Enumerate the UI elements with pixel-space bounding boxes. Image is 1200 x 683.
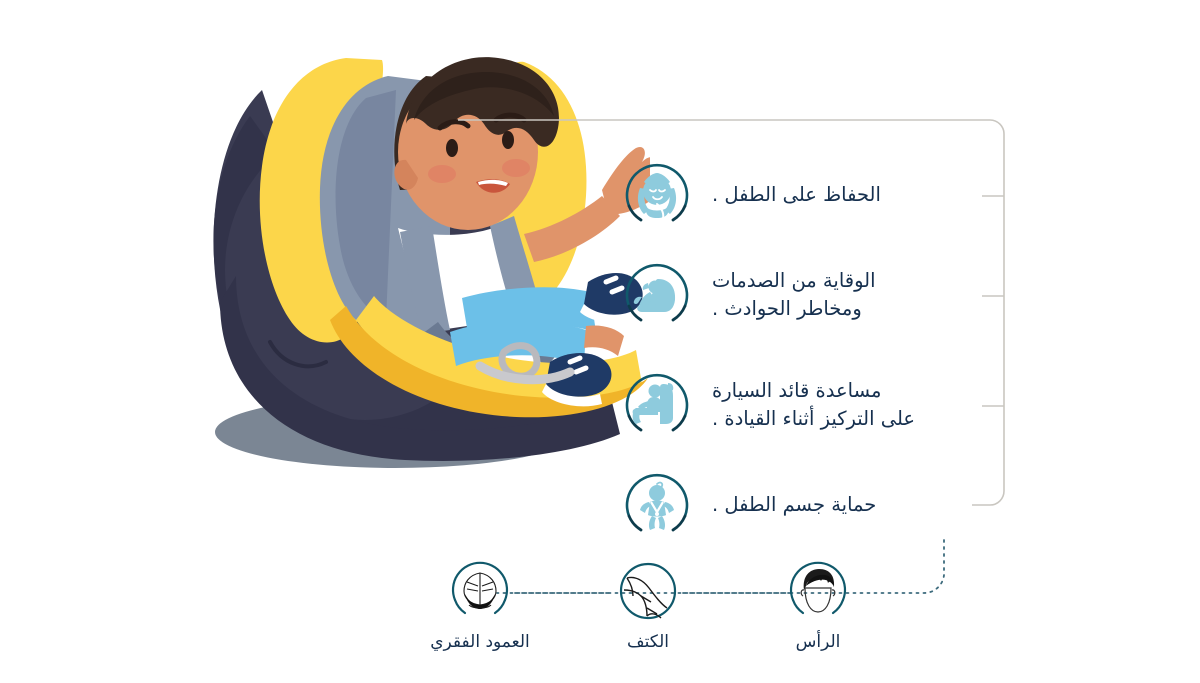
child-cheek-right bbox=[502, 159, 530, 177]
child-eye-right bbox=[502, 131, 514, 149]
body-part-label-spine: العمود الفقري bbox=[420, 632, 540, 652]
baby-face-cradled-icon bbox=[620, 158, 694, 232]
child-cheek-left bbox=[428, 165, 456, 183]
head-icon bbox=[785, 556, 851, 622]
body-part-shoulder[interactable]: الكتف bbox=[588, 556, 708, 652]
body-part-head[interactable]: الرأس bbox=[758, 556, 878, 652]
child-eye-left bbox=[446, 139, 458, 157]
body-part-spine[interactable]: العمود الفقري bbox=[420, 556, 540, 652]
body-part-label-head: الرأس bbox=[758, 632, 878, 652]
benefit-text-3: مساعدة قائد السيارة على التركيز أثناء ال… bbox=[694, 377, 1020, 434]
baby-in-car-seat-icon bbox=[620, 258, 694, 332]
body-part-label-shoulder: الكتف bbox=[588, 632, 708, 652]
spine-icon bbox=[447, 556, 513, 622]
seated-person-icon bbox=[620, 368, 694, 442]
child-in-car-seat-illustration bbox=[150, 20, 650, 480]
benefit-row-shock-protection[interactable]: الوقاية من الصدمات ومخاطر الحوادث . bbox=[620, 258, 1020, 332]
shoulder-icon bbox=[615, 556, 681, 622]
benefit-row-keep-child-safe[interactable]: الحفاظ على الطفل . bbox=[620, 158, 1020, 232]
child-leg-skin bbox=[584, 325, 624, 356]
benefit-text-1: الحفاظ على الطفل . bbox=[694, 181, 1020, 209]
benefits-list: الحفاظ على الطفل . bbox=[620, 120, 1020, 520]
benefit-row-protect-body[interactable]: حماية جسم الطفل . bbox=[620, 468, 1020, 542]
infographic-canvas: الحفاظ على الطفل . bbox=[0, 0, 1200, 683]
benefit-text-2: الوقاية من الصدمات ومخاطر الحوادث . bbox=[694, 267, 1020, 324]
benefit-text-4: حماية جسم الطفل . bbox=[694, 491, 1020, 519]
benefit-row-driver-focus[interactable]: مساعدة قائد السيارة على التركيز أثناء ال… bbox=[620, 368, 1020, 442]
harnessed-baby-icon bbox=[620, 468, 694, 542]
body-parts-row: العمود الفقري الكتف bbox=[0, 548, 1200, 668]
